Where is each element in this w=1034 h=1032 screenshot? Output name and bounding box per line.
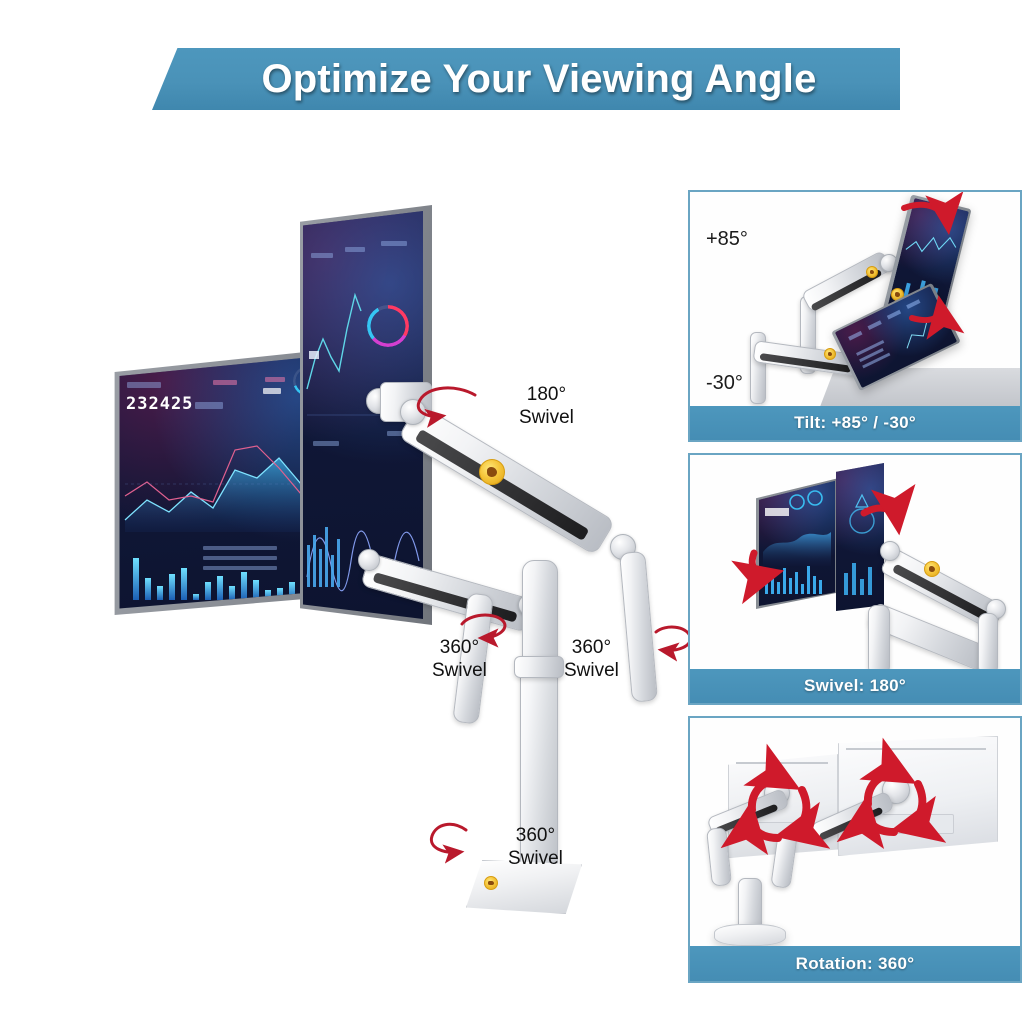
- label-swivel-180: 180° Swivel: [519, 383, 574, 429]
- swivel-post-right: [978, 613, 998, 675]
- label-swivel-360-right: 360° Swivel: [564, 636, 619, 682]
- lower-left-arm-joint: [358, 549, 380, 571]
- upper-arm-elbow-joint: [400, 399, 426, 425]
- label-swivel-360-left: 360° Swivel: [432, 636, 487, 682]
- brand-sticker-base: [484, 876, 498, 890]
- rotation-monitor-back-right: [838, 736, 998, 856]
- swivel-monitor-screen-right: [836, 463, 884, 611]
- label-swivel-360-right-degrees: 360°: [572, 637, 611, 658]
- tilt-angle-up: +85°: [706, 228, 748, 251]
- screen-left-label-b: [213, 380, 237, 385]
- brand-sticker-upper: [479, 459, 505, 485]
- panel-rotation-illustration: [690, 718, 1020, 950]
- screen-left-legend-3: [203, 566, 277, 570]
- header-banner: Optimize Your Viewing Angle: [152, 48, 900, 110]
- screen-left-headline-number: 232425: [126, 394, 193, 414]
- screen-left-pct-a: [263, 388, 281, 394]
- label-swivel-360-left-degrees: 360°: [440, 637, 479, 658]
- panel-tilt: +85° -30°: [688, 190, 1022, 442]
- screen-right-donut: [367, 305, 409, 347]
- panel-tilt-caption: Tilt: +85° / -30°: [690, 406, 1020, 440]
- tilt-lower-sticker: [824, 348, 836, 360]
- swivel-upper-joint: [880, 541, 900, 561]
- label-swivel-360-left-action: Swivel: [432, 660, 487, 681]
- label-swivel-360-base-degrees: 360°: [516, 825, 555, 846]
- rotation-bezel-line-left: [736, 762, 828, 764]
- swivel-sticker: [924, 561, 940, 577]
- panel-rotation-caption: Rotation: 360°: [690, 946, 1020, 981]
- upper-arm-dark-insert: [415, 429, 590, 541]
- right-vertical-post: [619, 551, 658, 703]
- label-swivel-360-base-action: Swivel: [508, 848, 563, 869]
- screen-right-label-c: [381, 241, 407, 246]
- screen-left-legend-2: [203, 556, 277, 560]
- swivel-post: [868, 605, 890, 675]
- screen-right-label-b: [345, 247, 365, 252]
- screen-right-label-a: [311, 253, 333, 258]
- main-product-diagram: 232425: [70, 160, 690, 950]
- label-swivel-360-base: 360° Swivel: [508, 824, 563, 870]
- panel-rotation: Rotation: 360°: [688, 716, 1022, 983]
- label-swivel-360-right-action: Swivel: [564, 660, 619, 681]
- swivel-screen-right-chart: [836, 463, 884, 611]
- label-swivel-180-action: Swivel: [519, 407, 574, 428]
- screen-left-legend: [203, 546, 277, 550]
- screen-left-subnum: [195, 402, 223, 409]
- rotation-bezel-line-right: [846, 748, 986, 750]
- label-swivel-180-degrees: 180°: [527, 384, 566, 405]
- tilt-angle-down: -30°: [706, 372, 743, 395]
- panel-swivel-caption: Swivel: 180°: [690, 669, 1020, 703]
- panel-swivel-illustration: [690, 455, 1020, 673]
- tilt-upper-sticker: [866, 266, 878, 278]
- pole-collar: [514, 656, 564, 678]
- page-title: Optimize Your Viewing Angle: [235, 57, 816, 102]
- infographic-page: Optimize Your Viewing Angle 232425: [0, 0, 1034, 1032]
- panel-swivel: Swivel: 180°: [688, 453, 1022, 705]
- screen-left-label-a: [127, 382, 161, 388]
- rotation-base: [714, 924, 786, 946]
- screen-left-label-c: [265, 377, 285, 382]
- panel-tilt-illustration: +85° -30°: [690, 192, 1020, 410]
- screen-right-label-d: [313, 441, 339, 446]
